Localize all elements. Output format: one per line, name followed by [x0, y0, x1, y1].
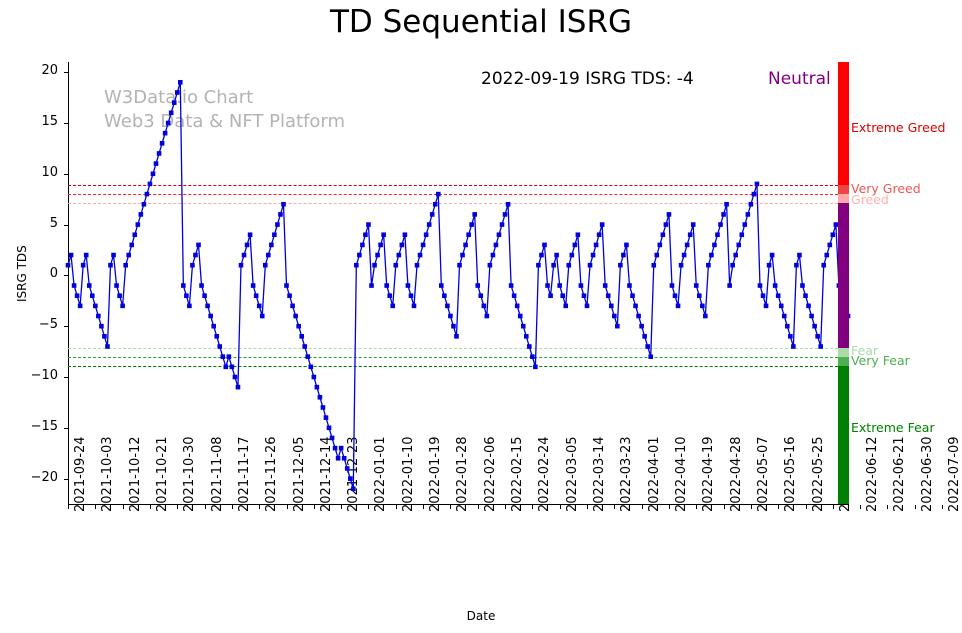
data-point-marker — [111, 253, 116, 258]
data-point-marker — [579, 283, 584, 288]
data-point-marker — [758, 283, 763, 288]
data-point-marker — [545, 283, 550, 288]
data-point-marker — [651, 263, 656, 268]
colorbar-label: Greed — [851, 192, 889, 207]
data-point-marker — [530, 354, 535, 359]
data-point-marker — [90, 293, 95, 298]
data-point-marker — [412, 304, 417, 309]
data-point-marker — [670, 283, 675, 288]
data-point-marker — [624, 243, 629, 248]
data-point-marker — [199, 283, 204, 288]
data-point-marker — [139, 212, 144, 217]
data-point-marker — [342, 456, 347, 461]
data-point-marker — [463, 243, 468, 248]
data-point-marker — [305, 354, 310, 359]
data-point-marker — [712, 243, 717, 248]
data-point-marker — [570, 253, 575, 258]
data-point-marker — [363, 232, 368, 237]
data-point-marker — [84, 253, 89, 258]
data-point-marker — [296, 324, 301, 329]
data-point-marker — [733, 253, 738, 258]
data-point-marker — [621, 253, 626, 258]
data-point-marker — [554, 253, 559, 258]
data-point-marker — [406, 283, 411, 288]
data-point-marker — [536, 263, 541, 268]
data-point-marker — [339, 446, 344, 451]
data-point-marker — [287, 293, 292, 298]
data-point-marker — [357, 253, 362, 258]
data-point-marker — [281, 202, 286, 207]
data-point-marker — [785, 324, 790, 329]
data-point-marker — [208, 314, 213, 319]
data-point-marker — [245, 243, 250, 248]
data-point-marker — [585, 304, 590, 309]
data-point-marker — [151, 171, 156, 176]
data-point-marker — [803, 293, 808, 298]
data-point-marker — [214, 334, 219, 339]
data-point-marker — [594, 243, 599, 248]
data-point-marker — [108, 263, 113, 268]
data-point-marker — [272, 232, 277, 237]
data-point-marker — [123, 263, 128, 268]
data-point-marker — [642, 334, 647, 339]
data-point-marker — [145, 192, 150, 197]
data-point-marker — [369, 283, 374, 288]
data-point-marker — [75, 293, 80, 298]
data-point-marker — [260, 314, 265, 319]
data-point-marker — [354, 263, 359, 268]
y-axis-label: ISRG TDS — [15, 262, 29, 302]
data-point-marker — [749, 202, 754, 207]
data-point-marker — [266, 253, 271, 258]
data-point-marker — [448, 314, 453, 319]
data-point-marker — [330, 436, 335, 441]
data-point-marker — [251, 283, 256, 288]
data-point-marker — [706, 263, 711, 268]
data-point-marker — [248, 232, 253, 237]
data-point-marker — [630, 293, 635, 298]
data-point-marker — [788, 334, 793, 339]
data-point-marker — [87, 283, 92, 288]
data-point-marker — [384, 283, 389, 288]
data-point-marker — [645, 344, 650, 349]
data-point-marker — [600, 222, 605, 227]
data-point-marker — [658, 243, 663, 248]
data-point-marker — [403, 232, 408, 237]
data-point-marker — [378, 243, 383, 248]
colorbar-segment — [838, 203, 849, 347]
data-point-marker — [469, 222, 474, 227]
data-point-marker — [169, 111, 174, 116]
data-point-marker — [196, 243, 201, 248]
data-point-marker — [278, 212, 283, 217]
data-point-marker — [721, 212, 726, 217]
colorbar-label: Extreme Greed — [851, 120, 945, 135]
data-point-marker — [542, 243, 547, 248]
data-point-marker — [806, 304, 811, 309]
data-point-marker — [636, 314, 641, 319]
data-point-marker — [254, 293, 259, 298]
data-point-marker — [102, 334, 107, 339]
data-point-marker — [831, 232, 836, 237]
data-point-marker — [743, 222, 748, 227]
data-point-marker — [685, 243, 690, 248]
data-point-marker — [676, 304, 681, 309]
data-point-marker — [220, 354, 225, 359]
data-point-marker — [439, 283, 444, 288]
data-point-marker — [381, 232, 386, 237]
data-point-marker — [205, 304, 210, 309]
data-point-marker — [527, 344, 532, 349]
data-series-svg — [0, 0, 962, 633]
data-point-marker — [539, 253, 544, 258]
data-point-marker — [506, 202, 511, 207]
data-point-marker — [290, 304, 295, 309]
data-point-marker — [618, 263, 623, 268]
data-point-marker — [697, 293, 702, 298]
data-point-marker — [302, 344, 307, 349]
data-point-marker — [779, 304, 784, 309]
data-point-marker — [521, 324, 526, 329]
data-point-marker — [230, 365, 235, 370]
colorbar-label: Very Fear — [851, 353, 910, 368]
data-point-marker — [96, 314, 101, 319]
data-point-marker — [472, 212, 477, 217]
data-point-marker — [457, 263, 462, 268]
data-point-marker — [770, 253, 775, 258]
data-point-marker — [566, 263, 571, 268]
data-point-marker — [639, 324, 644, 329]
data-point-marker — [691, 222, 696, 227]
colorbar-segment — [838, 366, 849, 504]
data-point-marker — [454, 334, 459, 339]
data-point-marker — [818, 344, 823, 349]
data-point-marker — [512, 293, 517, 298]
data-point-marker — [560, 293, 565, 298]
data-point-marker — [154, 161, 159, 166]
data-point-marker — [703, 314, 708, 319]
data-point-marker — [557, 283, 562, 288]
data-point-marker — [175, 90, 180, 95]
data-point-marker — [797, 253, 802, 258]
data-point-marker — [824, 253, 829, 258]
data-point-marker — [184, 293, 189, 298]
data-point-marker — [269, 243, 274, 248]
data-point-marker — [284, 283, 289, 288]
data-point-marker — [172, 100, 177, 105]
data-point-marker — [609, 304, 614, 309]
data-point-marker — [99, 324, 104, 329]
data-point-marker — [257, 304, 262, 309]
data-point-marker — [424, 232, 429, 237]
data-point-marker — [427, 222, 432, 227]
data-point-marker — [324, 415, 329, 420]
data-point-marker — [503, 212, 508, 217]
data-point-marker — [126, 253, 131, 258]
data-point-marker — [821, 263, 826, 268]
data-point-marker — [415, 263, 420, 268]
data-point-marker — [315, 385, 320, 390]
data-point-marker — [178, 80, 183, 85]
data-point-marker — [78, 304, 83, 309]
data-point-marker — [563, 304, 568, 309]
data-point-marker — [418, 253, 423, 258]
data-point-marker — [157, 151, 162, 156]
data-point-marker — [299, 334, 304, 339]
data-point-marker — [591, 253, 596, 258]
data-point-marker — [375, 253, 380, 258]
data-point-marker — [366, 222, 371, 227]
data-point-marker — [661, 232, 666, 237]
data-point-marker — [612, 314, 617, 319]
data-point-marker — [588, 263, 593, 268]
data-point-marker — [93, 304, 98, 309]
data-point-marker — [211, 324, 216, 329]
data-point-marker — [430, 212, 435, 217]
data-point-marker — [709, 253, 714, 258]
data-point-marker — [117, 293, 122, 298]
data-point-marker — [224, 365, 229, 370]
data-point-marker — [187, 304, 192, 309]
data-point-marker — [163, 131, 168, 136]
data-point-marker — [312, 375, 317, 380]
data-point-marker — [318, 395, 323, 400]
data-point-marker — [673, 293, 678, 298]
data-point-marker — [700, 304, 705, 309]
data-point-marker — [491, 253, 496, 258]
data-point-marker — [482, 304, 487, 309]
chart-root: TD Sequential ISRG 2022-09-19 ISRG TDS: … — [0, 0, 962, 633]
data-point-marker — [333, 446, 338, 451]
data-point-marker — [105, 344, 110, 349]
data-point-marker — [812, 324, 817, 329]
data-point-marker — [72, 283, 77, 288]
data-point-marker — [533, 365, 538, 370]
data-point-marker — [548, 293, 553, 298]
data-point-marker — [767, 263, 772, 268]
data-point-marker — [524, 334, 529, 339]
data-point-marker — [727, 283, 732, 288]
colorbar-segment — [838, 357, 849, 366]
data-point-marker — [309, 365, 314, 370]
data-point-marker — [500, 222, 505, 227]
data-point-marker — [233, 375, 238, 380]
data-point-marker — [515, 304, 520, 309]
data-point-marker — [648, 354, 653, 359]
data-point-marker — [136, 222, 141, 227]
data-point-marker — [809, 314, 814, 319]
data-point-marker — [718, 222, 723, 227]
data-point-marker — [202, 293, 207, 298]
data-point-marker — [236, 385, 241, 390]
data-point-marker — [345, 466, 350, 471]
data-point-marker — [827, 243, 832, 248]
data-point-marker — [497, 232, 502, 237]
data-point-marker — [69, 253, 74, 258]
data-point-marker — [764, 304, 769, 309]
data-point-marker — [442, 293, 447, 298]
data-point-marker — [761, 293, 766, 298]
data-point-marker — [397, 253, 402, 258]
data-point-marker — [800, 283, 805, 288]
data-point-marker — [436, 192, 441, 197]
data-point-marker — [773, 283, 778, 288]
data-point-marker — [494, 243, 499, 248]
data-point-marker — [573, 243, 578, 248]
data-point-marker — [551, 263, 556, 268]
data-point-marker — [724, 202, 729, 207]
data-point-marker — [752, 192, 757, 197]
data-point-marker — [739, 232, 744, 237]
data-point-marker — [815, 334, 820, 339]
colorbar-segment — [838, 348, 849, 357]
data-point-marker — [488, 263, 493, 268]
data-point-marker — [682, 253, 687, 258]
data-point-marker — [606, 293, 611, 298]
data-point-marker — [193, 253, 198, 258]
data-point-marker — [755, 182, 760, 187]
data-point-marker — [351, 486, 356, 491]
data-point-marker — [633, 304, 638, 309]
data-point-marker — [293, 314, 298, 319]
data-point-marker — [576, 232, 581, 237]
x-axis-label: Date — [0, 609, 962, 623]
data-point-marker — [321, 405, 326, 410]
data-point-marker — [782, 314, 787, 319]
data-point-marker — [445, 304, 450, 309]
data-point-marker — [518, 314, 523, 319]
data-point-marker — [485, 314, 490, 319]
data-point-marker — [336, 456, 341, 461]
data-point-marker — [451, 324, 456, 329]
data-point-marker — [387, 293, 392, 298]
data-point-marker — [509, 283, 514, 288]
data-point-marker — [217, 344, 222, 349]
data-point-marker — [348, 476, 353, 481]
data-point-marker — [694, 283, 699, 288]
colorbar-segment — [838, 62, 849, 185]
data-point-marker — [190, 263, 195, 268]
data-point-marker — [615, 324, 620, 329]
colorbar-segment — [838, 185, 849, 194]
data-point-marker — [327, 425, 332, 430]
data-point-marker — [360, 243, 365, 248]
data-point-marker — [667, 212, 672, 217]
data-point-marker — [242, 253, 247, 258]
data-point-marker — [166, 121, 171, 126]
colorbar-label: Extreme Fear — [851, 420, 935, 435]
data-point-marker — [460, 253, 465, 258]
data-point-marker — [582, 293, 587, 298]
data-point-marker — [239, 263, 244, 268]
data-point-marker — [475, 283, 480, 288]
data-point-marker — [776, 293, 781, 298]
data-point-marker — [227, 354, 232, 359]
colorbar-segment — [838, 194, 849, 203]
data-point-marker — [181, 283, 186, 288]
data-point-marker — [114, 283, 119, 288]
data-point-marker — [597, 232, 602, 237]
data-point-marker — [120, 304, 125, 309]
data-point-marker — [66, 263, 71, 268]
data-point-marker — [132, 232, 137, 237]
data-point-marker — [627, 283, 632, 288]
data-point-marker — [421, 243, 426, 248]
data-point-marker — [142, 202, 147, 207]
data-point-marker — [372, 263, 377, 268]
data-point-marker — [275, 222, 280, 227]
data-point-marker — [81, 263, 86, 268]
data-point-marker — [390, 304, 395, 309]
data-point-marker — [393, 263, 398, 268]
data-point-marker — [679, 263, 684, 268]
data-point-marker — [478, 293, 483, 298]
data-point-marker — [433, 202, 438, 207]
data-point-marker — [409, 293, 414, 298]
data-point-marker — [664, 222, 669, 227]
data-point-marker — [263, 263, 268, 268]
data-point-marker — [129, 243, 134, 248]
data-point-marker — [736, 243, 741, 248]
data-point-marker — [688, 232, 693, 237]
data-point-marker — [603, 283, 608, 288]
data-point-marker — [715, 232, 720, 237]
data-point-marker — [400, 243, 405, 248]
data-point-marker — [746, 212, 751, 217]
data-point-marker — [794, 263, 799, 268]
data-point-marker — [654, 253, 659, 258]
data-point-marker — [730, 263, 735, 268]
data-point-marker — [791, 344, 796, 349]
data-point-marker — [160, 141, 165, 146]
data-point-marker — [148, 182, 153, 187]
data-point-marker — [466, 232, 471, 237]
